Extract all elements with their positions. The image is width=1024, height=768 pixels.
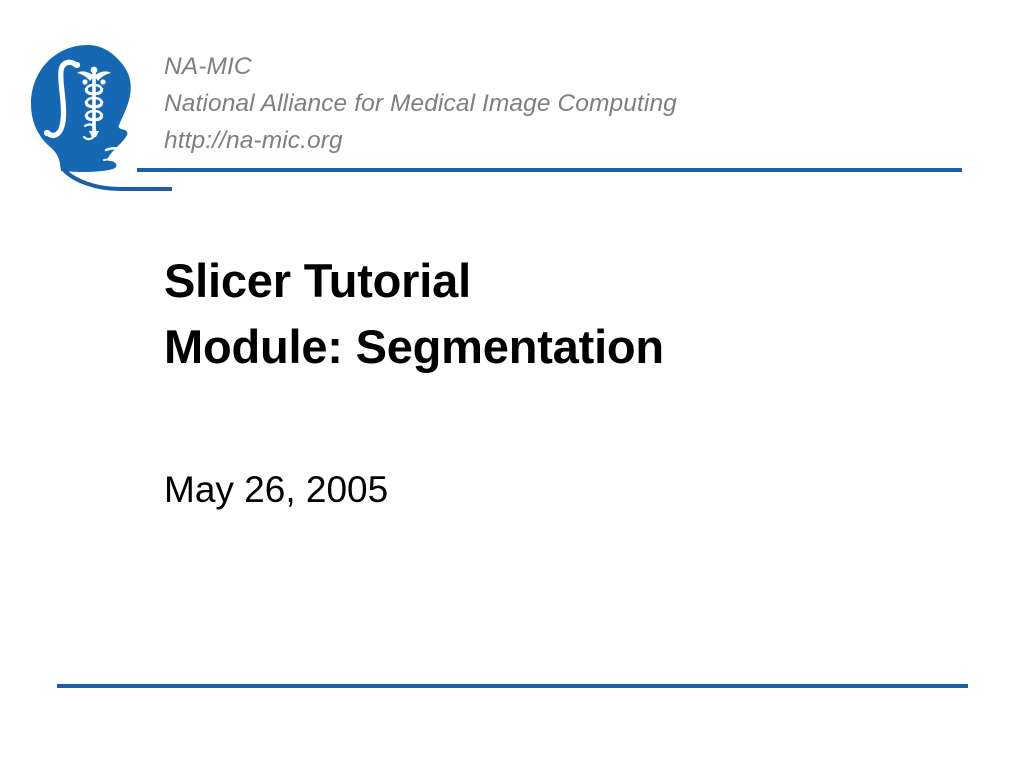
presentation-slide: NA-MIC National Alliance for Medical Ima…	[0, 0, 1024, 768]
slide-title-line-2: Module: Segmentation	[164, 314, 984, 380]
slide-title-block: Slicer Tutorial Module: Segmentation	[164, 248, 984, 380]
slide-title-line-1: Slicer Tutorial	[164, 248, 984, 314]
na-mic-logo-icon	[22, 38, 172, 183]
slide-date: May 26, 2005	[164, 466, 388, 514]
header-divider-rule	[137, 168, 962, 172]
footer-divider-rule	[57, 684, 968, 688]
org-full-name: National Alliance for Medical Image Comp…	[164, 85, 984, 122]
slide-header: NA-MIC National Alliance for Medical Ima…	[0, 0, 1024, 190]
org-acronym: NA-MIC	[164, 48, 984, 85]
organization-info: NA-MIC National Alliance for Medical Ima…	[164, 48, 984, 159]
org-website: http://na-mic.org	[164, 122, 984, 159]
